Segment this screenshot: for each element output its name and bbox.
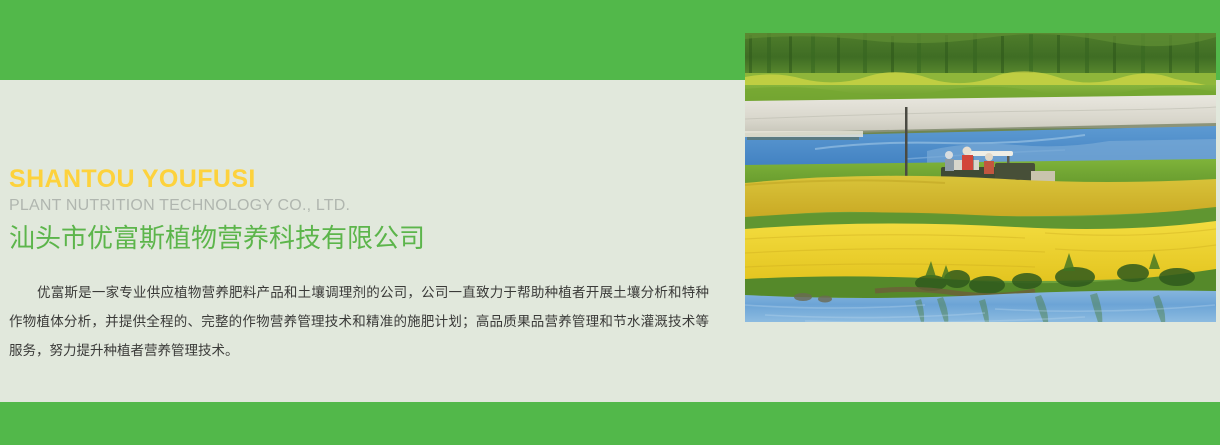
company-name-chinese: 汕头市优富斯植物营养科技有限公司	[9, 221, 709, 255]
company-description-paragraph: 优富斯是一家专业供应植物营养肥料产品和土壤调理剂的公司，公司一直致力于帮助种植者…	[9, 278, 709, 365]
intro-content-area: SHANTOU YOUFUSI PLANT NUTRITION TECHNOLO…	[0, 80, 730, 402]
page-root: SHANTOU YOUFUSI PLANT NUTRITION TECHNOLO…	[0, 0, 1220, 445]
brand-block: SHANTOU YOUFUSI PLANT NUTRITION TECHNOLO…	[9, 165, 709, 255]
company-name-english: SHANTOU YOUFUSI	[9, 165, 709, 193]
rice-paddy-photo	[745, 33, 1216, 322]
company-subtitle-english: PLANT NUTRITION TECHNOLOGY CO., LTD.	[9, 195, 709, 217]
bottom-green-band	[0, 402, 1220, 445]
rice-paddy-illustration	[745, 33, 1216, 322]
